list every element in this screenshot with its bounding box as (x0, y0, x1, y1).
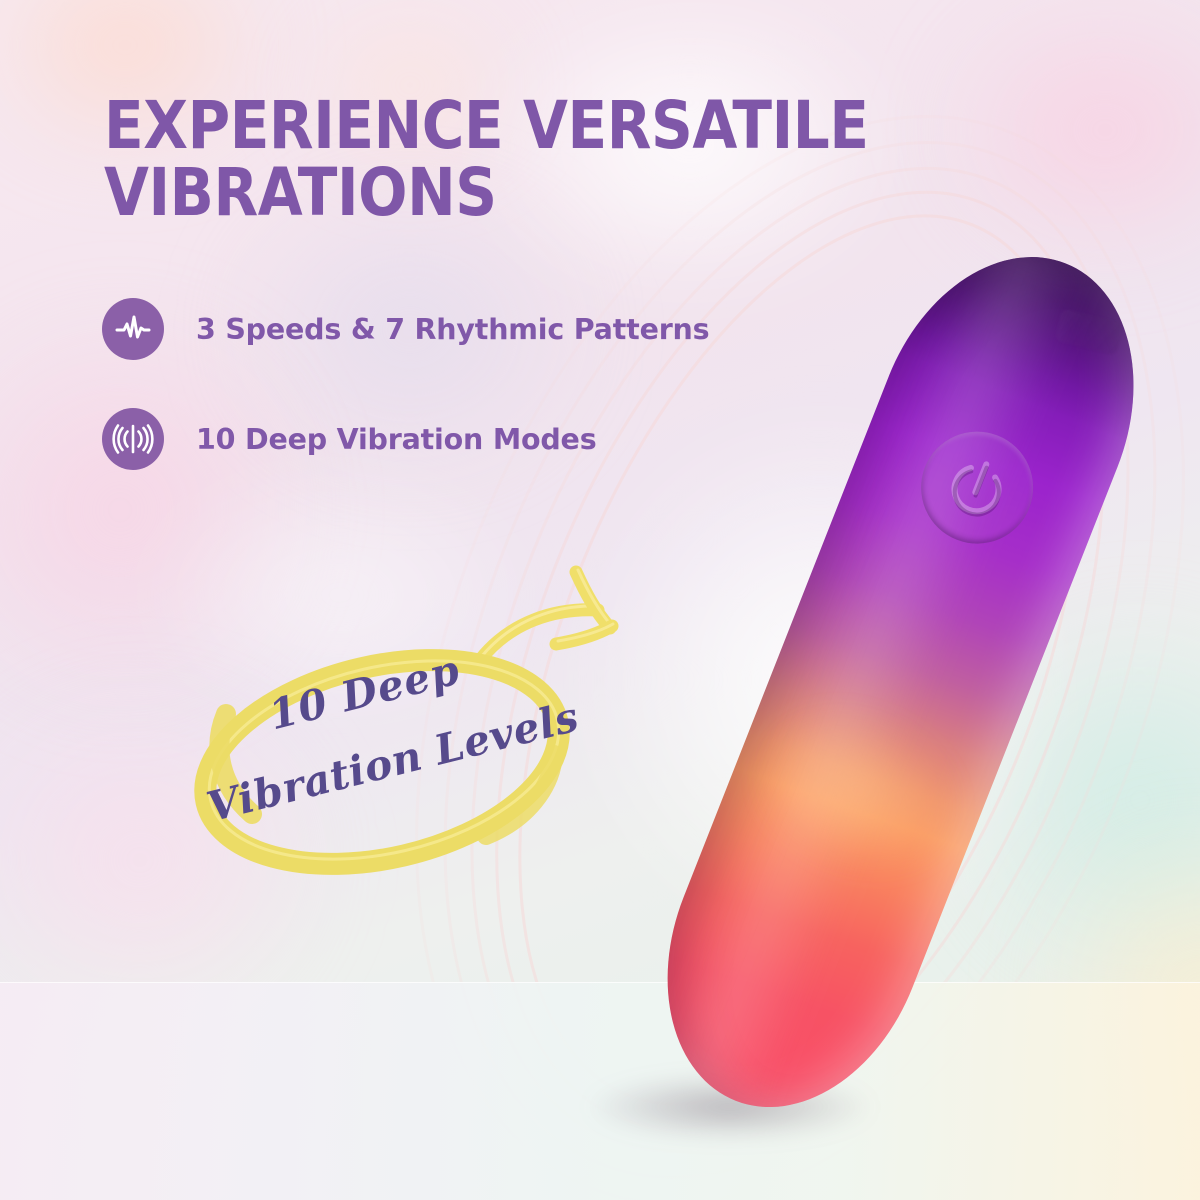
feature-label: 10 Deep Vibration Modes (196, 423, 596, 456)
surface-band (0, 982, 1200, 1200)
callout-line-2: Vibration Levels (202, 693, 583, 832)
feature-row-speeds-patterns: 3 Speeds & 7 Rhythmic Patterns (102, 296, 709, 362)
product-feature-banner: EXPERIENCE VERSATILE VIBRATIONS 3 Speeds… (0, 0, 1200, 1200)
feature-list: 3 Speeds & 7 Rhythmic Patterns 10 Deep (102, 296, 709, 516)
callout-text-block: 10 Deep Vibration Levels (186, 636, 586, 886)
pulse-waveform-icon (113, 309, 153, 349)
feature-badge (102, 408, 164, 470)
handwritten-callout: 10 Deep Vibration Levels (186, 636, 586, 886)
feature-label: 3 Speeds & 7 Rhythmic Patterns (196, 313, 709, 346)
page-title: EXPERIENCE VERSATILE VIBRATIONS (104, 92, 878, 227)
feature-badge (102, 298, 164, 360)
feature-row-vibration-modes: 10 Deep Vibration Modes (102, 406, 709, 472)
callout-line-1: 10 Deep (264, 646, 465, 740)
vibration-waves-icon (112, 418, 154, 460)
